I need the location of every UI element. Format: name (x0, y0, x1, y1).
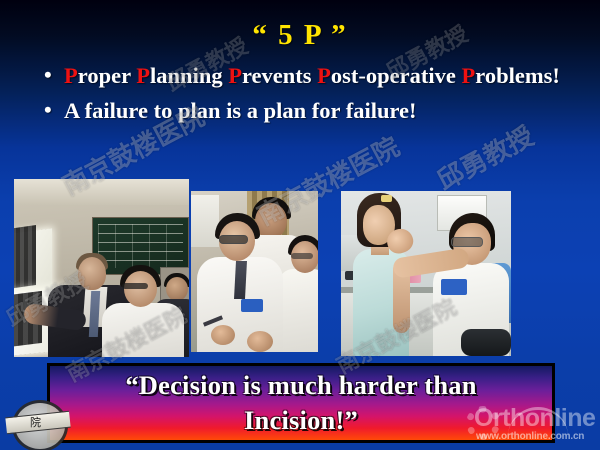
quote-line-1: “Decision is much harder than (50, 366, 552, 401)
logo-url: www.orthonline.com.cn (476, 431, 584, 442)
bullet-highlight-letter: P (462, 63, 476, 88)
photo-doctors-white-coats (191, 191, 318, 352)
photo-strip (0, 172, 600, 364)
bullet-highlight-letter: P (64, 63, 78, 88)
seal-character: 院 (30, 414, 41, 430)
bullet-highlight-letter: P (136, 63, 150, 88)
logo-wordmark: Orthonline (474, 404, 595, 433)
bullet-text-run: ost-operative (331, 63, 462, 88)
bullet-highlight-letter: P (228, 63, 242, 88)
photo-neck-examination (341, 191, 511, 356)
bullet-text-run: lanning (150, 63, 228, 88)
page-title: “ 5 P ” (0, 20, 600, 52)
bullet-item-1: Proper Planning Prevents Post-operative … (44, 62, 574, 91)
bullet-list: Proper Planning Prevents Post-operative … (44, 62, 574, 126)
bullet-item-2: A failure to plan is a plan for failure! (44, 97, 574, 126)
hospital-seal-emblem: 院 (8, 398, 66, 448)
bullet-text-run: roper (78, 63, 137, 88)
bullet-text-run: revents (242, 63, 317, 88)
bullet-highlight-letter: P (317, 63, 331, 88)
photo-xray-lightbox-review (14, 179, 189, 357)
bullet-text-run: roblems! (475, 63, 560, 88)
presentation-slide: “ 5 P ” Proper Planning Prevents Post-op… (0, 0, 600, 450)
orthonline-logo: Orthonline www.orthonline.com.cn (464, 404, 600, 446)
bullet-text-run: A failure to plan is a plan for failure! (64, 98, 417, 123)
